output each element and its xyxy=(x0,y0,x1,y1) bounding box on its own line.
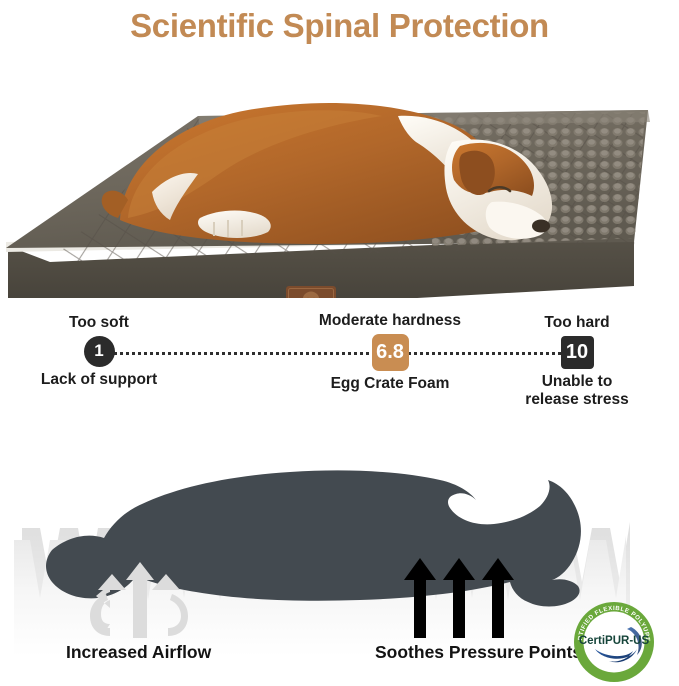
scale-node-bottom-label: Lack of support xyxy=(14,371,184,390)
certipur-us-badge: CONTAINS CERTIFIED FLEXIBLE POLYURETHANE… xyxy=(573,601,655,683)
scale-node-top-label: Too hard xyxy=(502,314,652,332)
scale-node-bottom-label: Unable to release stress xyxy=(502,373,652,410)
hardness-scale: Too soft 1 Lack of support Moderate hard… xyxy=(0,300,679,410)
scale-node-too-soft: Too soft 1 Lack of support xyxy=(14,314,184,389)
scale-marker-6-8: 6.8 xyxy=(372,334,409,371)
scale-node-top-label: Moderate hardness xyxy=(300,312,480,330)
caption-soothes-pressure-points: Soothes Pressure Points xyxy=(375,642,582,663)
scale-node-top-label: Too soft xyxy=(14,314,184,332)
pressure-point-arrows xyxy=(404,558,514,638)
badge-name-text: CertiPUR-US xyxy=(579,635,650,647)
scale-node-moderate: Moderate hardness 6.8 Egg Crate Foam xyxy=(300,312,480,393)
scale-node-bottom-line2: release stress xyxy=(502,391,652,410)
caption-increased-airflow: Increased Airflow xyxy=(66,642,211,663)
scale-node-bottom-line1: Unable to xyxy=(502,373,652,392)
scale-node-bottom-label: Egg Crate Foam xyxy=(300,375,480,394)
product-hero-image: Wooloves xyxy=(0,50,679,298)
brand-logo-tag: Wooloves xyxy=(286,286,336,298)
infographic-page: Scientific Spinal Protection xyxy=(0,0,679,686)
scale-marker-10: 10 xyxy=(561,336,594,369)
page-title: Scientific Spinal Protection xyxy=(0,0,679,52)
dog-on-bed-illustration: Wooloves xyxy=(0,50,679,298)
scale-marker-1: 1 xyxy=(84,336,115,367)
scale-node-too-hard: Too hard 10 Unable to release stress xyxy=(502,314,652,410)
